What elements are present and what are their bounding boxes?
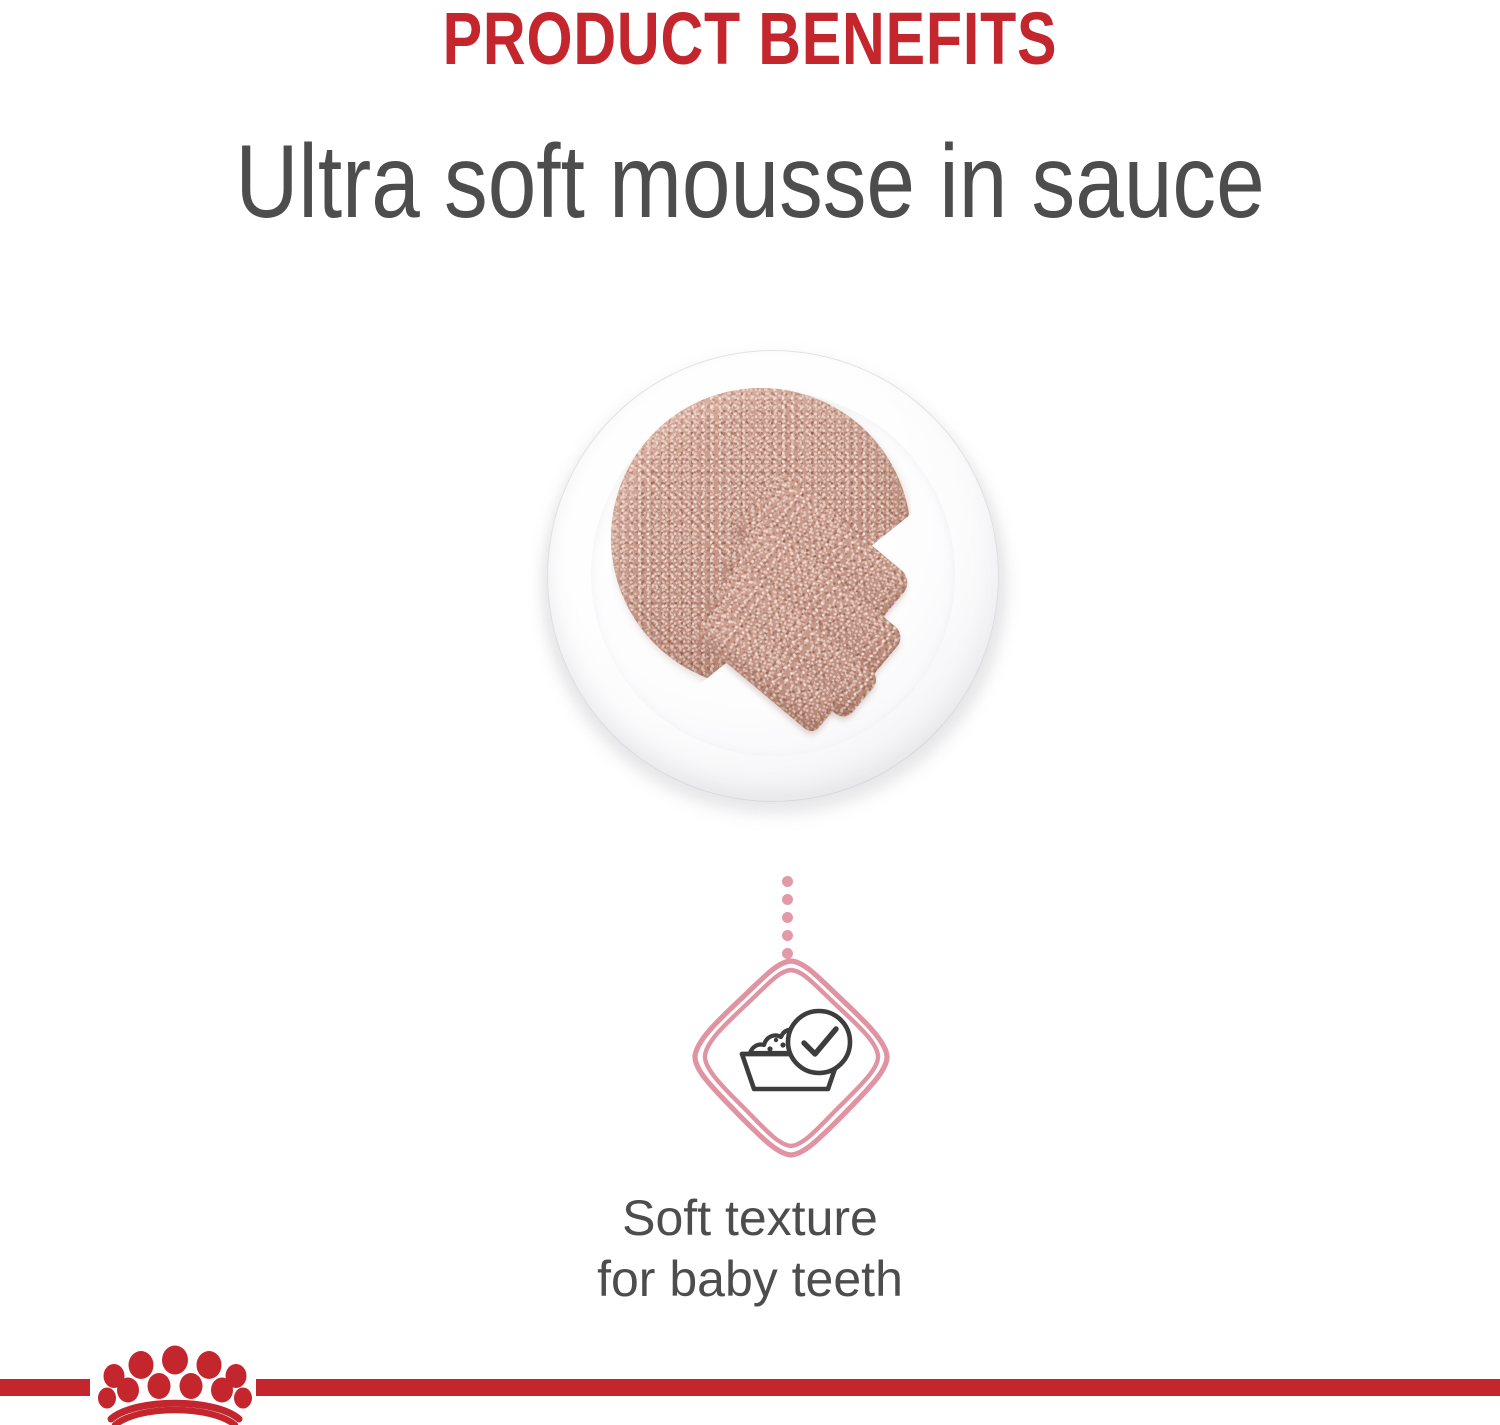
connector-dot bbox=[782, 912, 793, 923]
page-title: PRODUCT BENEFITS bbox=[150, 0, 1350, 78]
page-subtitle: Ultra soft mousse in sauce bbox=[120, 124, 1380, 240]
royal-canin-crown-logo bbox=[95, 1343, 255, 1425]
footer-rule-right bbox=[256, 1379, 1500, 1396]
benefit-caption-line-2: for baby teeth bbox=[0, 1249, 1500, 1310]
benefit-caption-line-1: Soft texture bbox=[0, 1188, 1500, 1249]
mousse-portion bbox=[525, 330, 1025, 830]
food-bowl-check-icon bbox=[742, 1011, 850, 1089]
dotted-connector bbox=[782, 876, 794, 960]
benefit-badge bbox=[688, 955, 894, 1161]
check-circle bbox=[788, 1011, 850, 1073]
footer-rule-left bbox=[0, 1379, 90, 1396]
product-photo bbox=[525, 330, 1025, 830]
benefit-caption: Soft texture for baby teeth bbox=[0, 1188, 1500, 1310]
connector-dot bbox=[782, 894, 793, 905]
connector-dot bbox=[782, 930, 793, 941]
connector-dot bbox=[782, 876, 793, 887]
footer-bar bbox=[0, 1376, 1500, 1425]
